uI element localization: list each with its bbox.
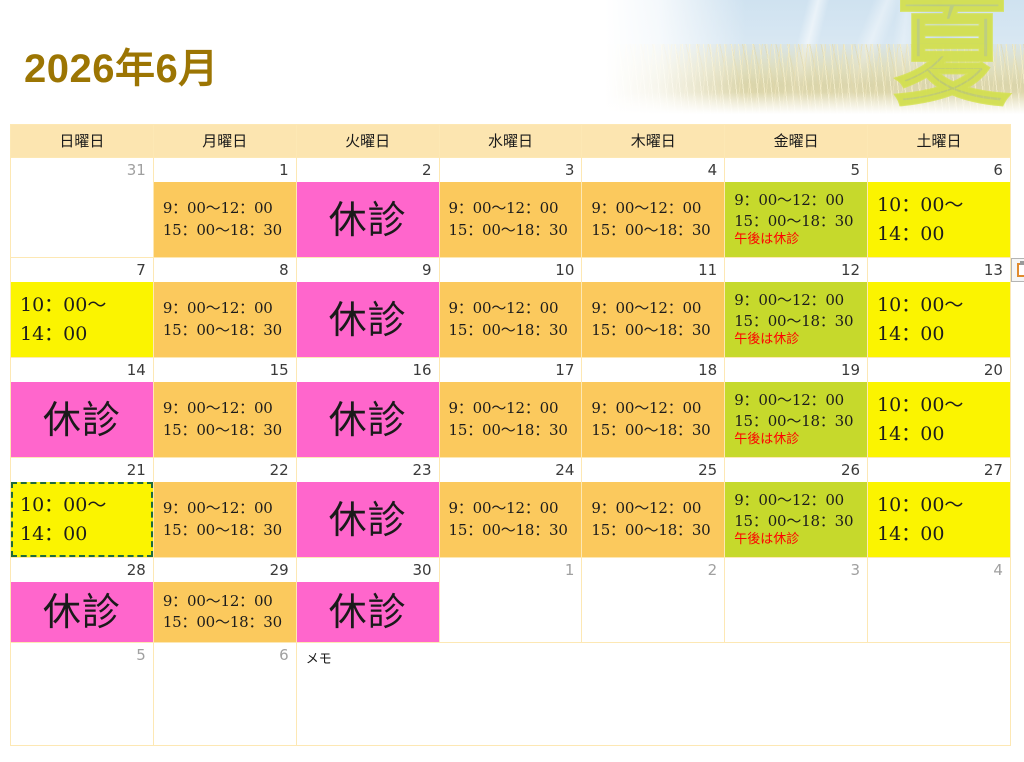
- afternoon-hours: 15：00〜18：30: [163, 220, 296, 241]
- saturday-start-hours: 10：00〜: [20, 491, 153, 520]
- afternoon-hours: 15：00〜18：30: [163, 520, 296, 541]
- memo-label: メモ: [297, 643, 1010, 667]
- day-content-block: 10：00〜14：00: [11, 282, 153, 357]
- day-cell-29[interactable]: 299：00〜12：0015：00〜18：30: [153, 558, 296, 643]
- afternoon-closed-note: 午後は休診: [734, 532, 867, 549]
- saturday-end-hours: 14：00: [877, 420, 1010, 449]
- day-number: 12: [725, 258, 867, 282]
- morning-hours: 9：00〜12：00: [591, 498, 724, 519]
- day-content-block: 10：00〜14：00: [868, 282, 1010, 357]
- saturday-start-hours: 10：00〜: [20, 291, 153, 320]
- day-number: 21: [11, 458, 153, 482]
- day-content-block: 9：00〜12：0015：00〜18：30午後は休診: [725, 182, 867, 257]
- closed-label: 休診: [297, 201, 439, 239]
- day-number: 4: [582, 158, 724, 182]
- day-content-block: 10：00〜14：00: [868, 382, 1010, 457]
- saturday-start-hours: 10：00〜: [877, 191, 1010, 220]
- day-number: 28: [11, 558, 153, 582]
- day-content-block: 10：00〜14：00: [868, 482, 1010, 557]
- day-number: 23: [297, 458, 439, 482]
- saturday-end-hours: 14：00: [877, 520, 1010, 549]
- day-content-block: 休診: [297, 582, 439, 642]
- morning-hours: 9：00〜12：00: [449, 298, 582, 319]
- day-content-block: 9：00〜12：0015：00〜18：30: [440, 182, 582, 257]
- day-content-block: 9：00〜12：0015：00〜18：30: [154, 582, 296, 642]
- closed-label: 休診: [297, 301, 439, 339]
- saturday-end-hours: 14：00: [20, 520, 153, 549]
- closed-label: 休診: [297, 401, 439, 439]
- day-number: 11: [582, 258, 724, 282]
- day-content-block: 9：00〜12：0015：00〜18：30: [440, 482, 582, 557]
- day-cell-12[interactable]: 129：00〜12：0015：00〜18：30午後は休診: [725, 258, 868, 358]
- calendar-week-row: 56メモ: [11, 643, 1011, 746]
- saturday-start-hours: 10：00〜: [877, 291, 1010, 320]
- afternoon-closed-note: 午後は休診: [734, 432, 867, 449]
- day-number: 29: [154, 558, 296, 582]
- day-cell-17[interactable]: 179：00〜12：0015：00〜18：30: [439, 358, 582, 458]
- day-cell-4[interactable]: 4: [868, 558, 1011, 643]
- afternoon-hours: 15：00〜18：30: [734, 411, 867, 432]
- day-cell-30[interactable]: 30休診: [296, 558, 439, 643]
- calendar-week-row: 14休診159：00〜12：0015：00〜18：3016休診179：00〜12…: [11, 358, 1011, 458]
- day-content-block: 休診: [11, 582, 153, 642]
- day-content-block: 9：00〜12：0015：00〜18：30午後は休診: [725, 482, 867, 557]
- day-content-block: 9：00〜12：0015：00〜18：30: [440, 382, 582, 457]
- afternoon-hours: 15：00〜18：30: [591, 320, 724, 341]
- summer-banner-image: 夏: [596, 0, 1024, 118]
- day-cell-27[interactable]: 2710：00〜14：00: [868, 458, 1011, 558]
- weekday-header-5: 金曜日: [725, 125, 868, 158]
- saturday-start-hours: 10：00〜: [877, 491, 1010, 520]
- weekday-header-0: 日曜日: [11, 125, 154, 158]
- day-number: 24: [440, 458, 582, 482]
- day-cell-10[interactable]: 109：00〜12：0015：00〜18：30: [439, 258, 582, 358]
- weekday-header-4: 木曜日: [582, 125, 725, 158]
- day-number: 2: [297, 158, 439, 182]
- weekday-header-1: 月曜日: [153, 125, 296, 158]
- day-cell-16[interactable]: 16休診: [296, 358, 439, 458]
- day-number: 9: [297, 258, 439, 282]
- day-number: 5: [725, 158, 867, 182]
- day-content-block: 休診: [297, 382, 439, 457]
- day-content-block: 9：00〜12：0015：00〜18：30: [154, 182, 296, 257]
- day-number: 3: [725, 558, 867, 582]
- day-cell-1[interactable]: 19：00〜12：0015：00〜18：30: [153, 158, 296, 258]
- afternoon-hours: 15：00〜18：30: [591, 220, 724, 241]
- paste-options-button[interactable]: [1011, 258, 1024, 282]
- day-cell-13[interactable]: 1310：00〜14：00: [868, 258, 1011, 358]
- day-content-block: 休診: [297, 182, 439, 257]
- day-number: 22: [154, 458, 296, 482]
- calendar-table: 日曜日月曜日火曜日水曜日木曜日金曜日土曜日 3119：00〜12：0015：00…: [10, 124, 1011, 746]
- day-content-block: 9：00〜12：0015：00〜18：30: [582, 182, 724, 257]
- afternoon-hours: 15：00〜18：30: [163, 320, 296, 341]
- day-number: 14: [11, 358, 153, 382]
- weekday-header-row: 日曜日月曜日火曜日水曜日木曜日金曜日土曜日: [11, 125, 1011, 158]
- day-number: 1: [154, 158, 296, 182]
- closed-label: 休診: [11, 401, 153, 439]
- paste-clipboard-icon: [1017, 263, 1024, 277]
- day-cell-2[interactable]: 2休診: [296, 158, 439, 258]
- afternoon-hours: 15：00〜18：30: [591, 420, 724, 441]
- afternoon-hours: 15：00〜18：30: [449, 220, 582, 241]
- day-content-block: 9：00〜12：0015：00〜18：30: [440, 282, 582, 357]
- day-cell-5[interactable]: 5: [11, 643, 154, 746]
- summer-kanji-watermark: 夏: [894, 0, 1010, 112]
- day-content-block: 休診: [297, 482, 439, 557]
- day-number: 8: [154, 258, 296, 282]
- day-cell-25[interactable]: 259：00〜12：0015：00〜18：30: [582, 458, 725, 558]
- day-cell-4[interactable]: 49：00〜12：0015：00〜18：30: [582, 158, 725, 258]
- morning-hours: 9：00〜12：00: [734, 390, 867, 411]
- saturday-end-hours: 14：00: [877, 220, 1010, 249]
- afternoon-hours: 15：00〜18：30: [591, 520, 724, 541]
- morning-hours: 9：00〜12：00: [591, 198, 724, 219]
- morning-hours: 9：00〜12：00: [163, 591, 296, 612]
- day-cell-28[interactable]: 28休診: [11, 558, 154, 643]
- day-content-block: 10：00〜14：00: [11, 482, 153, 557]
- morning-hours: 9：00〜12：00: [163, 398, 296, 419]
- memo-cell[interactable]: メモ: [296, 643, 1010, 746]
- day-cell-26[interactable]: 269：00〜12：0015：00〜18：30午後は休診: [725, 458, 868, 558]
- day-number: 6: [868, 158, 1010, 182]
- calendar-week-row: 3119：00〜12：0015：00〜18：302休診39：00〜12：0015…: [11, 158, 1011, 258]
- day-cell-24[interactable]: 249：00〜12：0015：00〜18：30: [439, 458, 582, 558]
- morning-hours: 9：00〜12：00: [591, 298, 724, 319]
- closed-label: 休診: [297, 593, 439, 631]
- afternoon-hours: 15：00〜18：30: [449, 420, 582, 441]
- day-content-block: 9：00〜12：0015：00〜18：30午後は休診: [725, 382, 867, 457]
- afternoon-hours: 15：00〜18：30: [734, 211, 867, 232]
- afternoon-hours: 15：00〜18：30: [163, 612, 296, 633]
- day-number: 13: [868, 258, 1010, 282]
- day-cell-22[interactable]: 229：00〜12：0015：00〜18：30: [153, 458, 296, 558]
- day-number: 1: [440, 558, 582, 582]
- day-content-block: 9：00〜12：0015：00〜18：30: [582, 382, 724, 457]
- day-content-block: 9：00〜12：0015：00〜18：30: [154, 282, 296, 357]
- morning-hours: 9：00〜12：00: [591, 398, 724, 419]
- day-cell-19[interactable]: 199：00〜12：0015：00〜18：30午後は休診: [725, 358, 868, 458]
- morning-hours: 9：00〜12：00: [734, 490, 867, 511]
- weekday-header-3: 水曜日: [439, 125, 582, 158]
- day-cell-3[interactable]: 39：00〜12：0015：00〜18：30: [439, 158, 582, 258]
- day-number: 5: [11, 643, 153, 667]
- morning-hours: 9：00〜12：00: [163, 198, 296, 219]
- morning-hours: 9：00〜12：00: [734, 190, 867, 211]
- day-number: 30: [297, 558, 439, 582]
- day-number: 4: [868, 558, 1010, 582]
- morning-hours: 9：00〜12：00: [449, 498, 582, 519]
- day-number: 6: [154, 643, 296, 667]
- day-number: 18: [582, 358, 724, 382]
- afternoon-hours: 15：00〜18：30: [163, 420, 296, 441]
- day-cell-6[interactable]: 6: [153, 643, 296, 746]
- morning-hours: 9：00〜12：00: [734, 290, 867, 311]
- day-content-block: 休診: [11, 382, 153, 457]
- day-cell-7[interactable]: 710：00〜14：00: [11, 258, 154, 358]
- morning-hours: 9：00〜12：00: [163, 498, 296, 519]
- day-number: 20: [868, 358, 1010, 382]
- day-cell-6[interactable]: 610：00〜14：00: [868, 158, 1011, 258]
- afternoon-closed-note: 午後は休診: [734, 332, 867, 349]
- afternoon-hours: 15：00〜18：30: [449, 320, 582, 341]
- morning-hours: 9：00〜12：00: [449, 198, 582, 219]
- saturday-end-hours: 14：00: [877, 320, 1010, 349]
- calendar-week-row: 710：00〜14：0089：00〜12：0015：00〜18：309休診109…: [11, 258, 1011, 358]
- day-cell-21[interactable]: 2110：00〜14：00: [11, 458, 154, 558]
- day-cell-18[interactable]: 189：00〜12：0015：00〜18：30: [582, 358, 725, 458]
- day-cell-31[interactable]: 31: [11, 158, 154, 258]
- afternoon-closed-note: 午後は休診: [734, 232, 867, 249]
- day-number: 31: [11, 158, 153, 182]
- afternoon-hours: 15：00〜18：30: [734, 311, 867, 332]
- day-number: 27: [868, 458, 1010, 482]
- page-title: 2026年6月: [24, 36, 219, 94]
- afternoon-hours: 15：00〜18：30: [734, 511, 867, 532]
- day-number: 15: [154, 358, 296, 382]
- calendar-week-row: 2110：00〜14：00229：00〜12：0015：00〜18：3023休診…: [11, 458, 1011, 558]
- calendar-body: 3119：00〜12：0015：00〜18：302休診39：00〜12：0015…: [11, 158, 1011, 746]
- day-number: 2: [582, 558, 724, 582]
- day-number: 26: [725, 458, 867, 482]
- day-cell-9[interactable]: 9休診: [296, 258, 439, 358]
- day-content-block: 9：00〜12：0015：00〜18：30: [582, 282, 724, 357]
- weekday-header-6: 土曜日: [868, 125, 1011, 158]
- weekday-header-2: 火曜日: [296, 125, 439, 158]
- afternoon-hours: 15：00〜18：30: [449, 520, 582, 541]
- day-content-block: 休診: [297, 282, 439, 357]
- day-cell-11[interactable]: 119：00〜12：0015：00〜18：30: [582, 258, 725, 358]
- day-cell-15[interactable]: 159：00〜12：0015：00〜18：30: [153, 358, 296, 458]
- day-number: 10: [440, 258, 582, 282]
- calendar-week-row: 28休診299：00〜12：0015：00〜18：3030休診1234: [11, 558, 1011, 643]
- morning-hours: 9：00〜12：00: [449, 398, 582, 419]
- day-number: 16: [297, 358, 439, 382]
- day-cell-2[interactable]: 2: [582, 558, 725, 643]
- closed-label: 休診: [11, 593, 153, 631]
- day-cell-8[interactable]: 89：00〜12：0015：00〜18：30: [153, 258, 296, 358]
- day-number: 7: [11, 258, 153, 282]
- day-content-block: 9：00〜12：0015：00〜18：30: [154, 382, 296, 457]
- day-content-block: 9：00〜12：0015：00〜18：30: [154, 482, 296, 557]
- saturday-end-hours: 14：00: [20, 320, 153, 349]
- morning-hours: 9：00〜12：00: [163, 298, 296, 319]
- day-cell-3[interactable]: 3: [725, 558, 868, 643]
- day-cell-14[interactable]: 14休診: [11, 358, 154, 458]
- day-content-block: 9：00〜12：0015：00〜18：30午後は休診: [725, 282, 867, 357]
- closed-label: 休診: [297, 501, 439, 539]
- calendar-page: 夏 2026年6月 日曜日月曜日火曜日水曜日木曜日金曜日土曜日 3119：00〜…: [0, 0, 1024, 762]
- day-number: 19: [725, 358, 867, 382]
- day-content-block: 10：00〜14：00: [868, 182, 1010, 257]
- day-number: 3: [440, 158, 582, 182]
- day-cell-1[interactable]: 1: [439, 558, 582, 643]
- day-number: 25: [582, 458, 724, 482]
- day-cell-23[interactable]: 23休診: [296, 458, 439, 558]
- day-cell-20[interactable]: 2010：00〜14：00: [868, 358, 1011, 458]
- day-number: 17: [440, 358, 582, 382]
- day-cell-5[interactable]: 59：00〜12：0015：00〜18：30午後は休診: [725, 158, 868, 258]
- day-content-block: 9：00〜12：0015：00〜18：30: [582, 482, 724, 557]
- saturday-start-hours: 10：00〜: [877, 391, 1010, 420]
